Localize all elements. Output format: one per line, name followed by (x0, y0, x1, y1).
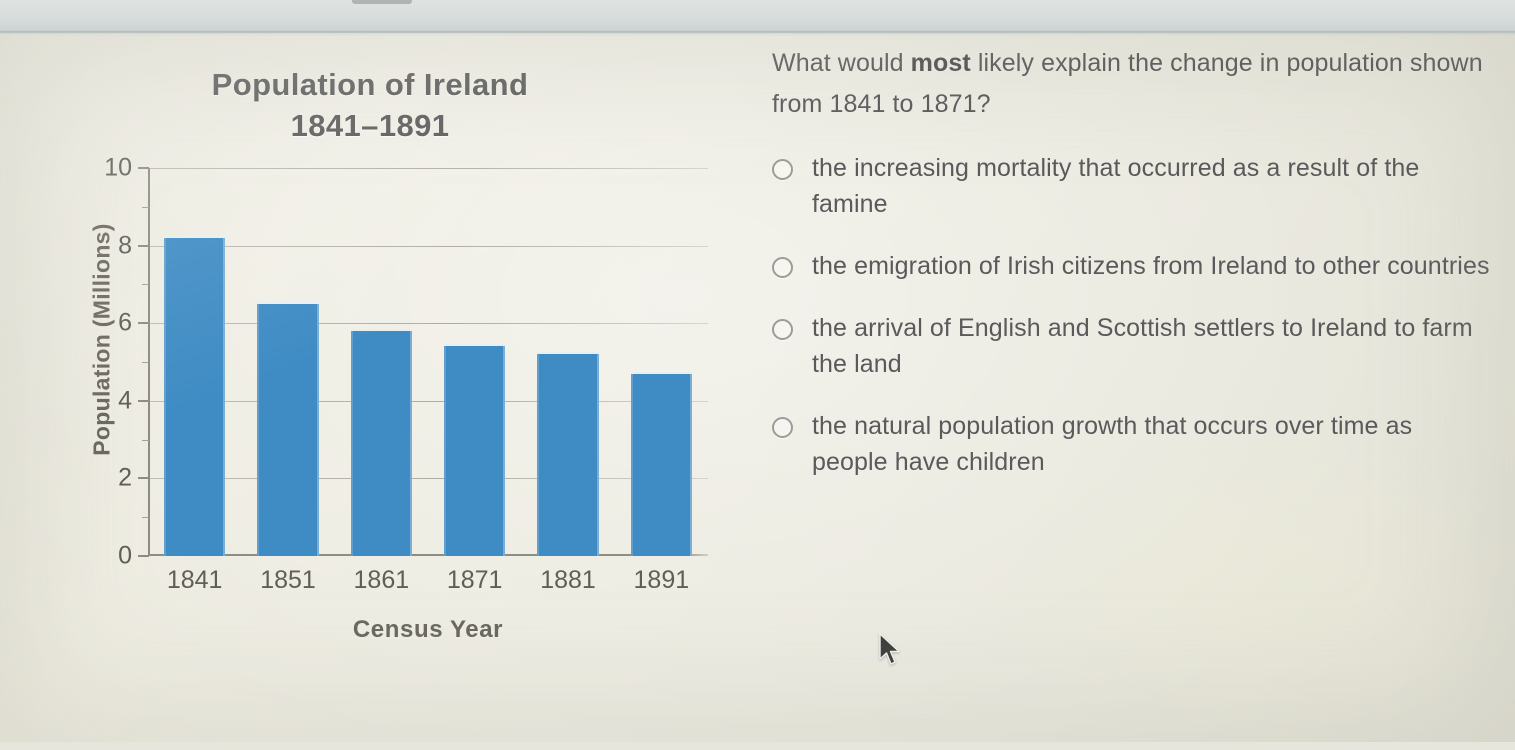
x-axis-label: 1881 (540, 566, 596, 595)
gridline (148, 246, 708, 247)
bar-1891 (631, 372, 693, 556)
y-axis-tick (138, 555, 149, 557)
y-axis-label: 6 (118, 309, 132, 338)
radio-button-icon[interactable] (772, 417, 793, 438)
chart-title-line2: 1841–1891 (40, 106, 700, 147)
y-axis-label: 10 (104, 154, 132, 183)
bar-1841 (164, 236, 226, 556)
x-axis-label: 1851 (260, 566, 316, 595)
answer-option-c[interactable]: the arrival of English and Scottish sett… (772, 310, 1492, 382)
plot-wrapper: Population (Millions) 024681018411851186… (40, 168, 740, 568)
y-axis-label: 2 (118, 464, 132, 493)
answer-options-list: the increasing mortality that occurred a… (772, 150, 1492, 480)
radio-button-icon[interactable] (772, 257, 793, 278)
y-axis-tick (138, 167, 149, 169)
x-axis-label: 1841 (167, 566, 223, 595)
x-axis-label: 1891 (634, 566, 690, 595)
x-axis-title: Census Year (148, 616, 708, 644)
question-emphasis-word: most (911, 49, 971, 77)
screenshot-root: Population of Ireland 1841–1891 Populati… (0, 0, 1515, 742)
x-axis-line (148, 554, 708, 556)
answer-option-label: the emigration of Irish citizens from Ir… (812, 248, 1490, 284)
x-axis-label: 1871 (447, 566, 503, 595)
device-speaker-notch (352, 0, 412, 4)
gridline (148, 401, 708, 402)
y-axis-label: 8 (118, 231, 132, 260)
bar-1861 (351, 329, 413, 556)
answer-option-label: the increasing mortality that occurred a… (812, 150, 1492, 222)
y-axis-label: 4 (118, 386, 132, 415)
y-axis-minor-tick (142, 362, 149, 363)
bar-1851 (257, 302, 319, 556)
answer-option-label: the natural population growth that occur… (812, 408, 1492, 480)
plot-area: 0246810184118511861187118811891 (148, 168, 708, 556)
chart-title-line1: Population of Ireland (212, 67, 529, 102)
radio-button-icon[interactable] (772, 159, 793, 180)
top-strip-shadow (0, 31, 1515, 37)
x-axis-label: 1861 (354, 566, 410, 595)
chart-panel: Population of Ireland 1841–1891 Populati… (40, 40, 740, 670)
y-axis-minor-tick (142, 284, 149, 285)
question-text-before: What would (772, 49, 911, 77)
question-prompt: What would most likely explain the chang… (772, 43, 1492, 124)
device-top-strip (0, 0, 1515, 33)
y-axis-label: 0 (118, 542, 132, 571)
radio-button-icon[interactable] (772, 319, 793, 340)
bar-1881 (537, 352, 599, 556)
y-axis-minor-tick (142, 440, 149, 441)
bar-1871 (444, 344, 506, 556)
y-axis-tick (138, 400, 149, 402)
answer-option-label: the arrival of English and Scottish sett… (812, 310, 1492, 382)
y-axis-tick (138, 322, 149, 324)
gridline (148, 323, 708, 324)
y-axis-tick (138, 477, 149, 479)
gridline (148, 168, 708, 169)
gridline (148, 478, 708, 479)
question-panel: What would most likely explain the chang… (772, 43, 1492, 506)
y-axis-tick (138, 245, 149, 247)
answer-option-a[interactable]: the increasing mortality that occurred a… (772, 150, 1492, 222)
y-axis-minor-tick (142, 207, 149, 208)
mouse-pointer-icon (878, 633, 904, 667)
answer-option-d[interactable]: the natural population growth that occur… (772, 408, 1492, 480)
y-axis-title: Population (Millions) (89, 190, 116, 490)
answer-option-b[interactable]: the emigration of Irish citizens from Ir… (772, 248, 1492, 284)
y-axis-minor-tick (142, 517, 149, 518)
chart-title: Population of Ireland 1841–1891 (40, 65, 700, 147)
